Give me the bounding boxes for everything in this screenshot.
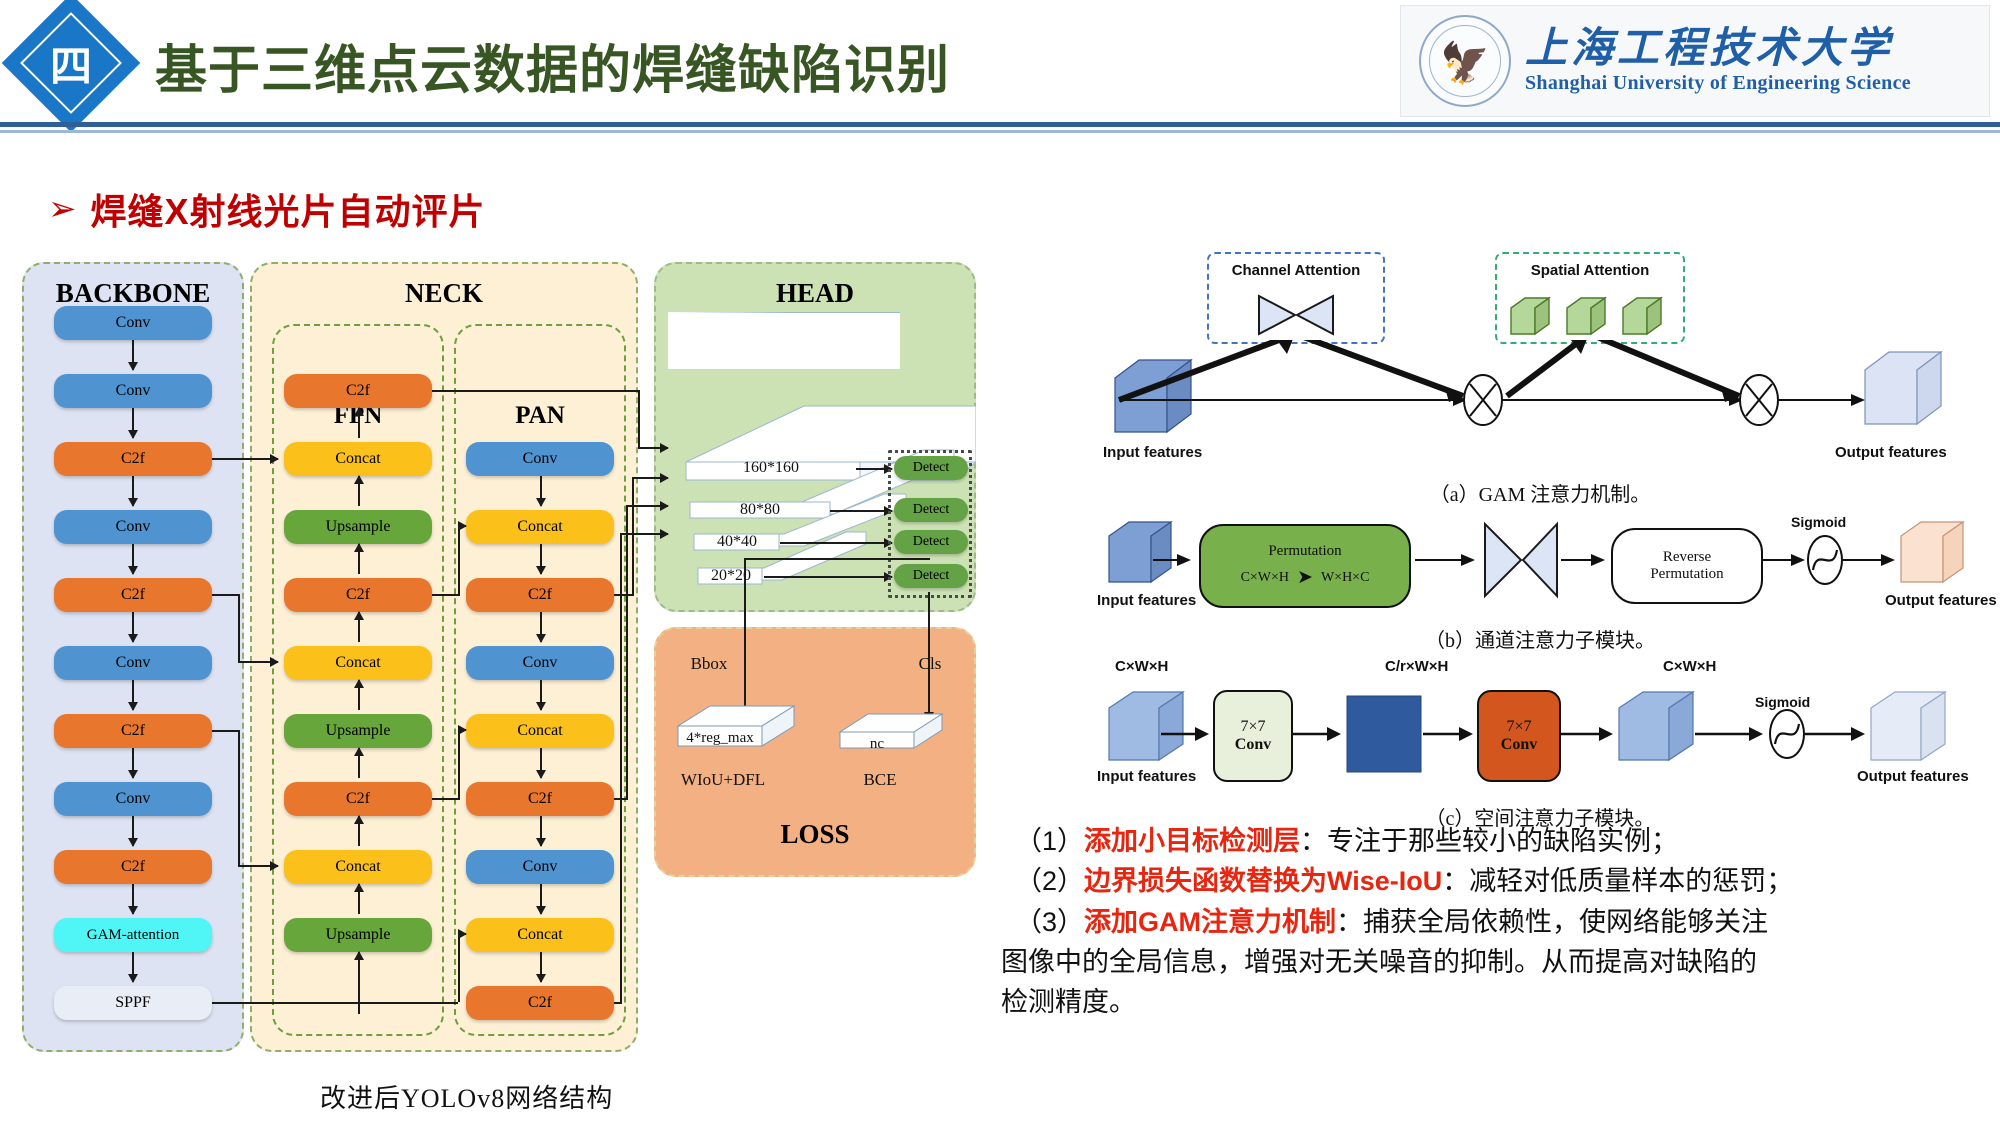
head-feed-line-20 xyxy=(620,534,622,1002)
bullet-2-highlight: 边界损失函数替换为Wise-IoU xyxy=(1084,866,1442,896)
conv1-label: Conv xyxy=(1235,736,1271,754)
conclusion-bullets: （1）添加小目标检测层：专注于那些较小的缺陷实例； （2）边界损失函数替换为Wi… xyxy=(1015,822,1975,1024)
gam-c-input-label: Input features xyxy=(1097,768,1196,785)
gam-c-sigmoid-label: Sigmoid xyxy=(1755,694,1810,710)
yolov8-network-diagram: BACKBONE NECK FPN PAN HEAD LOSS Conv Con… xyxy=(22,262,980,1072)
pan-node-c2f-1[interactable]: C2f xyxy=(466,578,614,612)
bbox-route-top xyxy=(744,558,930,560)
backbone-node-c2f-2[interactable]: C2f xyxy=(54,578,212,612)
arrow-up xyxy=(358,408,360,438)
arrow-down xyxy=(132,476,134,506)
fpn-node-concat-3[interactable]: Concat xyxy=(284,850,432,884)
arrow-down xyxy=(132,680,134,710)
network-diagram-caption: 改进后YOLOv8网络结构 xyxy=(320,1078,613,1115)
bullet-item-5: 检测精度。 xyxy=(1001,983,1975,1021)
pan-node-conv-3[interactable]: Conv xyxy=(466,850,614,884)
conv2-label: Conv xyxy=(1501,736,1537,754)
arrow-40-to-detect xyxy=(780,542,892,544)
bullet-3-highlight: 添加GAM注意力机制 xyxy=(1084,907,1336,937)
bullet-2-rest: ：减轻对低质量样本的惩罚； xyxy=(1442,866,1793,896)
gam-c-dim-2: C/r×W×H xyxy=(1385,658,1448,675)
conv-7x7-block-2: 7×7 Conv xyxy=(1477,690,1561,782)
fpn-node-c2f-3[interactable]: C2f xyxy=(284,782,432,816)
arrow-up xyxy=(358,816,360,846)
gam-c-dim-1: C×W×H xyxy=(1115,658,1168,675)
pan-node-concat-1[interactable]: Concat xyxy=(466,510,614,544)
arrow-down xyxy=(540,952,542,982)
university-logo: 🦅 上海工程技术大学 Shanghai University of Engine… xyxy=(1400,5,1990,117)
arrow-up xyxy=(358,680,360,710)
reverse-line-1: Reverse xyxy=(1663,549,1711,566)
bullet-item-2: （2）边界损失函数替换为Wise-IoU：减轻对低质量样本的惩罚； xyxy=(1015,862,1975,900)
arrow-down xyxy=(132,544,134,574)
gam-b-caption: （b）通道注意力子模块。 xyxy=(1095,624,1985,653)
arrow-down xyxy=(540,476,542,506)
conv2-kernel: 7×7 xyxy=(1506,718,1531,736)
skip-connection-c2f3-concat3 xyxy=(238,865,278,867)
pan-node-conv-2[interactable]: Conv xyxy=(466,646,614,680)
fpn-node-c2f-1[interactable]: C2f xyxy=(284,374,432,408)
skip-connection-c2f2-concat2 xyxy=(238,661,278,663)
gam-c-output-label: Output features xyxy=(1857,768,1969,785)
subtitle-text: 焊缝X射线光片自动评片 xyxy=(91,183,486,235)
bullet-1-number: （1） xyxy=(1015,826,1084,856)
gam-attention-figures: Channel Attention Spatial Attention xyxy=(1095,262,1985,802)
gam-a-flow-arrows xyxy=(1095,340,1985,460)
skip-line xyxy=(238,730,240,866)
pan-node-c2f-3[interactable]: C2f xyxy=(466,986,614,1020)
head-feed-line-160 xyxy=(432,390,640,392)
pan-label: PAN xyxy=(456,402,624,430)
skip-connection-c2f1-concat1 xyxy=(212,458,278,460)
head-layer-label-20: 20*20 xyxy=(698,566,764,586)
permutation-to: W×H×C xyxy=(1321,570,1369,586)
fpn-to-pan-concat2 xyxy=(458,729,466,731)
detect-node-3[interactable]: Detect xyxy=(894,530,968,554)
arrow-down xyxy=(132,408,134,438)
pan-node-concat-3[interactable]: Concat xyxy=(466,918,614,952)
fpn-to-pan-concat1 xyxy=(458,525,466,527)
bullet-5-rest: 检测精度。 xyxy=(1001,987,1136,1017)
arrow-up xyxy=(358,612,360,642)
fpn-node-concat-2[interactable]: Concat xyxy=(284,646,432,680)
university-name-cn: 上海工程技术大学 xyxy=(1525,27,1911,71)
loss-bbox-label: Bbox xyxy=(674,654,744,674)
gam-b-sigmoid-label: Sigmoid xyxy=(1791,514,1846,530)
head-feed-line-160 xyxy=(638,390,640,448)
bullet-item-4: 图像中的全局信息，增强对无关噪音的抑制。从而提高对缺陷的 xyxy=(1001,943,1975,981)
backbone-node-conv-4[interactable]: Conv xyxy=(54,646,212,680)
arrow-down xyxy=(132,612,134,642)
arrow-down xyxy=(540,748,542,778)
loss-label: LOSS xyxy=(656,819,974,850)
bullet-item-3: （3）添加GAM注意力机制：捕获全局依赖性，使网络能够关注 xyxy=(1015,903,1975,941)
bowtie-icon xyxy=(1255,292,1339,338)
arrow-down xyxy=(132,748,134,778)
right-arrow-icon: ➤ xyxy=(1297,566,1313,589)
reverse-permutation-block: Reverse Permutation xyxy=(1611,528,1763,604)
bullet-2-number: （2） xyxy=(1015,866,1084,896)
page-title: 基于三维点云数据的焊缝缺陷识别 xyxy=(155,28,950,103)
arrow-up xyxy=(358,884,360,914)
arrow-160-to-detect xyxy=(856,468,892,470)
backbone-node-c2f-1[interactable]: C2f xyxy=(54,442,212,476)
section-number: 四 xyxy=(22,14,120,112)
head-feed-line-80 xyxy=(632,478,634,594)
fpn-pan-line xyxy=(358,1002,458,1004)
bullet-3-number: （3） xyxy=(1015,907,1084,937)
backbone-node-gam-attention[interactable]: GAM-attention xyxy=(54,918,212,952)
skip-line xyxy=(238,594,240,662)
header-rule-thin xyxy=(0,130,2000,133)
gam-b-output-label: Output features xyxy=(1885,592,1997,609)
conv1-kernel: 7×7 xyxy=(1240,718,1265,736)
head-feed-line-80 xyxy=(614,594,634,596)
permutation-block: Permutation C×W×H ➤ W×H×C xyxy=(1199,524,1411,608)
head-layer-label-40: 40*40 xyxy=(694,532,780,552)
fpn-node-c2f-2[interactable]: C2f xyxy=(284,578,432,612)
gam-a-caption: （a）GAM 注意力机制。 xyxy=(1095,478,1985,507)
sppf-to-fpn-line xyxy=(212,1002,358,1004)
backbone-node-conv-2[interactable]: Conv xyxy=(54,374,212,408)
spatial-attention-label: Spatial Attention xyxy=(1497,262,1683,279)
gam-a-output-label: Output features xyxy=(1835,444,1947,461)
arrow-20-to-detect xyxy=(764,576,892,578)
arrow-down xyxy=(132,816,134,846)
detect-node-4[interactable]: Detect xyxy=(894,564,968,588)
head-layer-label-80: 80*80 xyxy=(690,500,830,520)
head-feed-line-20 xyxy=(614,1002,622,1004)
bullet-1-rest: ：专注于那些较小的缺陷实例； xyxy=(1300,826,1678,856)
fpn-pan-line xyxy=(432,594,460,596)
header-rule-thick xyxy=(0,122,2000,127)
fpn-pan-line xyxy=(432,798,460,800)
bullet-4-rest: 图像中的全局信息，增强对无关噪音的抑制。从而提高对缺陷的 xyxy=(1001,947,1757,977)
fpn-pan-line xyxy=(458,730,460,798)
skip-line xyxy=(212,730,240,732)
arrow-up xyxy=(358,544,360,574)
loss-bbox-box-label: 4*reg_max xyxy=(678,730,762,747)
bullet-item-1: （1）添加小目标检测层：专注于那些较小的缺陷实例； xyxy=(1015,822,1975,860)
permutation-from: C×W×H xyxy=(1241,570,1289,586)
backbone-node-conv-3[interactable]: Conv xyxy=(54,510,212,544)
fpn-node-upsample-2[interactable]: Upsample xyxy=(284,714,432,748)
arrow-down xyxy=(540,544,542,574)
backbone-label: BACKBONE xyxy=(24,278,242,309)
bird-glyph-icon: 🦅 xyxy=(1440,39,1490,86)
arrow-up xyxy=(358,952,360,1014)
loss-cls-label: Cls xyxy=(900,654,960,674)
university-seal-icon: 🦅 xyxy=(1419,15,1511,107)
arrow-down xyxy=(132,340,134,370)
arrow-up xyxy=(358,476,360,506)
neck-label: NECK xyxy=(252,278,636,309)
backbone-node-sppf[interactable]: SPPF xyxy=(54,986,212,1020)
fpn-to-pan-concat3 xyxy=(458,933,466,935)
arrow-down xyxy=(540,884,542,914)
fpn-node-concat-1[interactable]: Concat xyxy=(284,442,432,476)
detect-node-1[interactable]: Detect xyxy=(894,456,968,480)
bullet-1-highlight: 添加小目标检测层 xyxy=(1084,826,1300,856)
conv-7x7-block-1: 7×7 Conv xyxy=(1213,690,1293,782)
subtitle-row: ➢ 焊缝X射线光片自动评片 xyxy=(48,183,486,235)
arrow-down xyxy=(132,952,134,982)
arrow-down xyxy=(540,680,542,710)
bullet-3-rest: ：捕获全局依赖性，使网络能够关注 xyxy=(1336,907,1768,937)
backbone-node-conv-1[interactable]: Conv xyxy=(54,306,212,340)
arrow-up xyxy=(358,748,360,778)
loss-bbox-caption: WIoU+DFL xyxy=(668,770,778,790)
backbone-node-conv-5[interactable]: Conv xyxy=(54,782,212,816)
fpn-node-upsample-3[interactable]: Upsample xyxy=(284,918,432,952)
channel-attention-label: Channel Attention xyxy=(1209,262,1383,279)
gam-b-input-label: Input features xyxy=(1097,592,1196,609)
head-layer-label-160: 160*160 xyxy=(686,458,856,478)
arrow-80-to-detect xyxy=(830,510,892,512)
permutation-title: Permutation xyxy=(1268,543,1341,560)
pan-node-c2f-2[interactable]: C2f xyxy=(466,782,614,816)
gam-c-dim-3: C×W×H xyxy=(1663,658,1716,675)
arrow-down xyxy=(132,884,134,914)
skip-line xyxy=(212,594,240,596)
spatial-cubes-icon xyxy=(1505,292,1677,342)
pan-node-conv-1[interactable]: Conv xyxy=(466,442,614,476)
arrow-down xyxy=(540,816,542,846)
loss-3d-boxes xyxy=(654,682,976,812)
fpn-pan-line xyxy=(458,934,460,1002)
backbone-node-c2f-3[interactable]: C2f xyxy=(54,714,212,748)
loss-cls-caption: BCE xyxy=(840,770,920,790)
bullet-arrow-icon: ➢ xyxy=(48,192,77,226)
detect-node-2[interactable]: Detect xyxy=(894,498,968,522)
arrow-down xyxy=(540,612,542,642)
fpn-pan-line xyxy=(458,526,460,594)
university-name-en: Shanghai University of Engineering Scien… xyxy=(1525,72,1911,95)
slide-header: 四 基于三维点云数据的焊缝缺陷识别 🦅 上海工程技术大学 Shanghai Un… xyxy=(0,0,2000,130)
loss-cls-box-label: nc xyxy=(840,736,914,753)
reverse-line-2: Permutation xyxy=(1650,566,1723,583)
head-feed-line-40 xyxy=(626,506,628,798)
fpn-node-upsample-1[interactable]: Upsample xyxy=(284,510,432,544)
pan-node-concat-2[interactable]: Concat xyxy=(466,714,614,748)
backbone-node-c2f-4[interactable]: C2f xyxy=(54,850,212,884)
gam-a-input-label: Input features xyxy=(1103,444,1202,461)
